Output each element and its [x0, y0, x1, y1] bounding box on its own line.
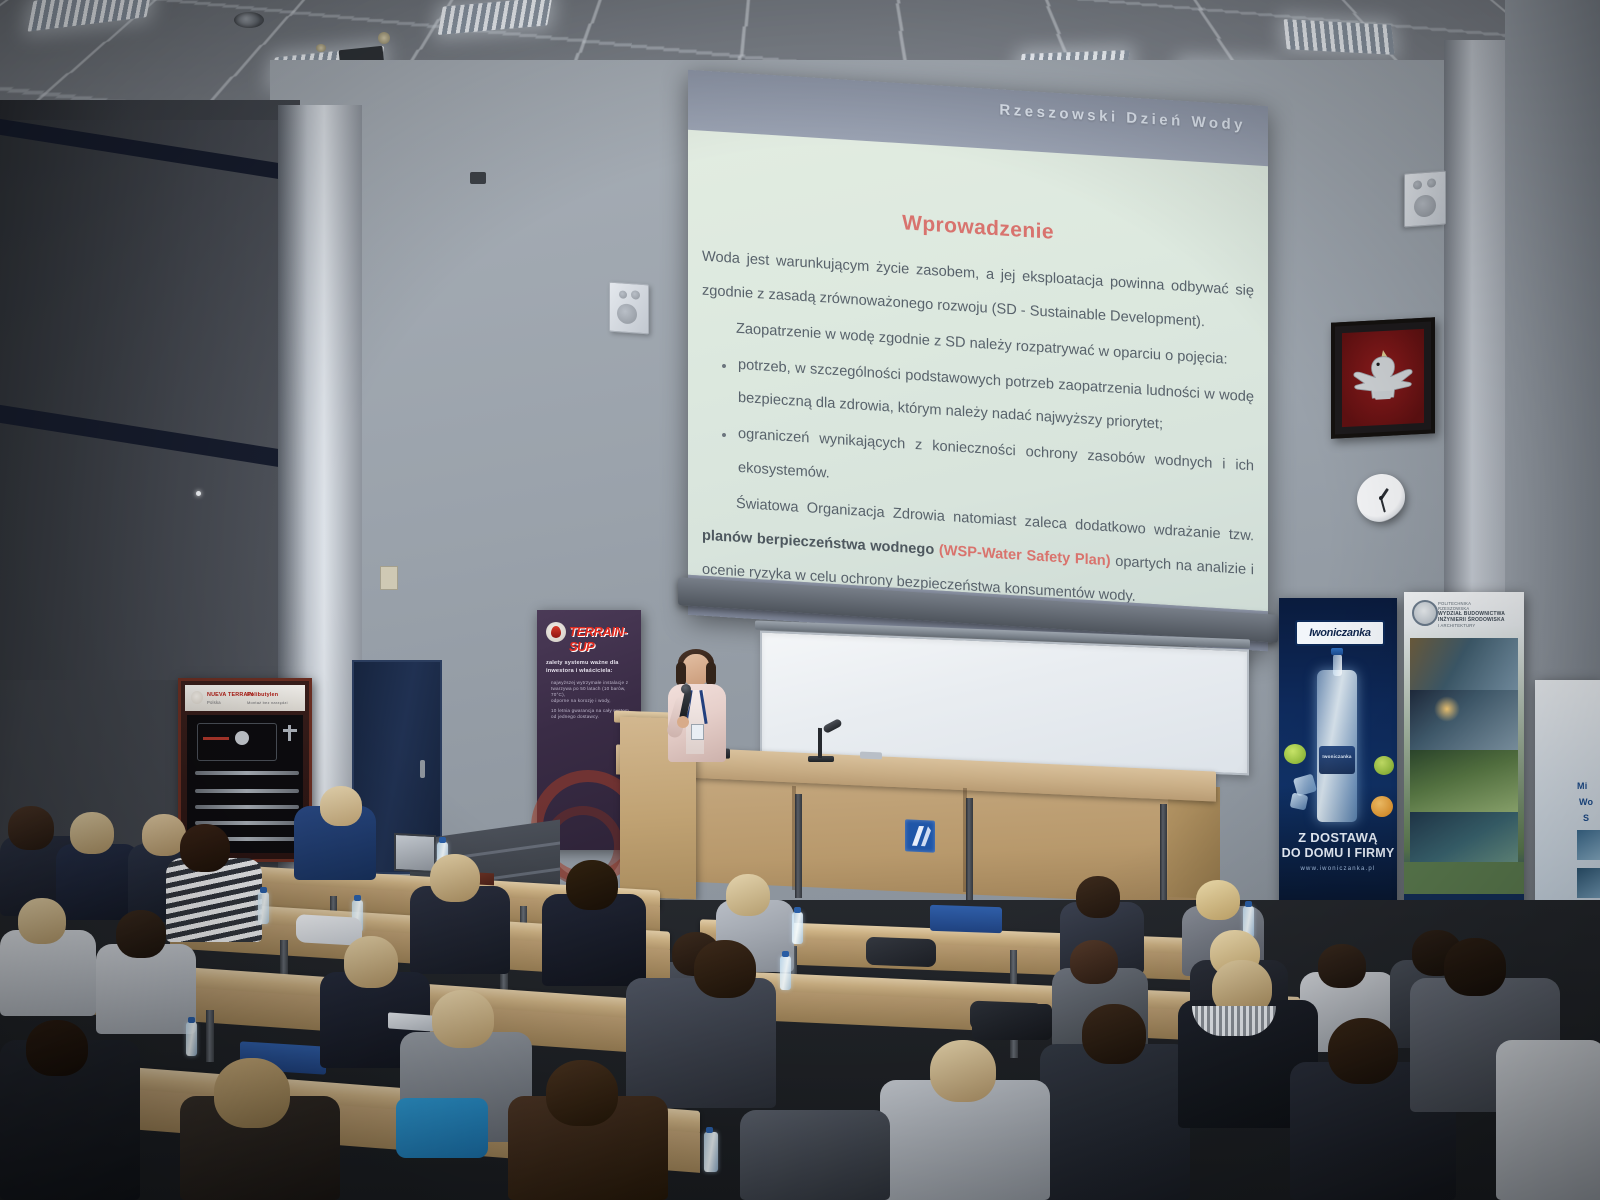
audience-head: [432, 990, 494, 1048]
iwoniczanka-line-2: DO DOMU I FIRMY: [1279, 846, 1397, 860]
audience-head: [546, 1060, 618, 1126]
speaker-cone: [617, 303, 637, 324]
water-bottle: [780, 956, 791, 990]
audience-head: [18, 898, 66, 944]
water-bottle: [186, 1022, 197, 1056]
banner-university: POLITECHNIKA RZESZOWSKA WYDZIAŁ BUDOWNIC…: [1404, 592, 1524, 922]
slide-p3-part-b: planów berpieczeństwa wodnego: [702, 527, 939, 558]
water-bottle: [704, 1132, 718, 1172]
audience-torso: [740, 1110, 890, 1200]
banner-footer-green: [1404, 862, 1524, 894]
far-banner-line-1: Mi: [1577, 780, 1587, 792]
picture-frame-on-bench: [394, 833, 436, 873]
cabinet-valve-icon: [235, 731, 249, 745]
sprinkler-head: [316, 44, 326, 52]
audience-head: [1328, 1018, 1398, 1084]
orange-slice-graphic: [1371, 796, 1393, 817]
speaker-tweeter: [1427, 178, 1436, 188]
polish-eagle-emblem: [1331, 317, 1435, 438]
speaker-tweeter: [1413, 180, 1422, 190]
audience-head: [214, 1058, 290, 1128]
cabinet-pipe-red: [203, 737, 229, 740]
wall-loudspeaker: [609, 282, 649, 335]
handbag: [972, 1004, 1052, 1040]
audience-head: [320, 786, 362, 826]
presenter-hand: [677, 716, 689, 728]
sprinkler-head: [378, 32, 390, 44]
left-wall-panel: [0, 120, 290, 680]
audience-head: [70, 812, 114, 854]
cabinet-brand-sub: Polska: [207, 700, 221, 706]
audience-head: [1076, 876, 1120, 918]
presenter-badge: [691, 724, 704, 740]
lime-slice-graphic: [1374, 756, 1394, 775]
structural-column: [1444, 40, 1514, 640]
terrain-flame-icon: [546, 622, 566, 642]
university-logo-icon: [1412, 600, 1438, 626]
terrain-logo-icon: [191, 691, 203, 704]
terrain-heading: zalety systemu ważne dla inwestora i wła…: [546, 660, 633, 675]
audience-head: [1444, 938, 1506, 996]
presenter-hair-side: [676, 662, 686, 686]
iwoniczanka-line-1: Z DOSTAWĄ: [1279, 830, 1397, 845]
presenter: [660, 650, 734, 760]
audience-head: [1318, 944, 1366, 988]
cabinet-fitting-icon: [288, 725, 291, 741]
speaker-tweeter: [631, 290, 640, 300]
audience-head: [1196, 880, 1240, 920]
desk-leg: [966, 798, 973, 902]
audience-shirt-accent: [396, 1098, 488, 1158]
collage-photo: [1410, 690, 1518, 750]
iwoniczanka-brand-text: Iwoniczanka: [1309, 627, 1371, 639]
banner-iwoniczanka: Iwoniczanka Iwoniczanka Z DOSTAWĄ DO DOM…: [1279, 598, 1397, 910]
slide-wsp-highlight: (WSP-Water Safety Plan): [939, 542, 1111, 569]
audience-head: [930, 1040, 996, 1102]
audience-head: [180, 824, 230, 872]
wall-light-dot: [196, 491, 201, 496]
cabinet-label-plate: NUEVA TERRAIN Polska Polibutylen Montaż …: [185, 685, 305, 711]
water-bottle: [792, 912, 803, 944]
terrain-bullet-2: odporne na korozję i wody,: [551, 698, 633, 704]
eagle-icon: [1342, 329, 1424, 427]
audience-head: [344, 936, 398, 988]
iwoniczanka-website: www.iwoniczanka.pl: [1279, 866, 1397, 872]
cabinet-pipe-sample: [195, 805, 299, 809]
audience-head: [430, 854, 480, 902]
far-banner-photo: [1577, 830, 1600, 860]
ceiling-light-fixture: [1283, 19, 1394, 55]
collage-glow: [1434, 696, 1460, 722]
bench-seat: [930, 905, 1002, 934]
presenter-hair-side: [706, 662, 716, 686]
bottle-neck: [1333, 654, 1342, 676]
institution-logo-icon: [905, 819, 935, 852]
projection-screen: Rzeszowski Dzień Wody Wprowadzenie Woda …: [688, 70, 1268, 651]
wall-outlet-box: [380, 566, 398, 590]
audience-head: [1082, 1004, 1146, 1064]
bottle-cap: [1331, 648, 1343, 655]
lecture-hall-photo: Rzeszowski Dzień Wody Wprowadzenie Woda …: [0, 0, 1600, 1200]
ice-cube-graphic: [1290, 793, 1309, 811]
bag-on-bench: [866, 937, 936, 967]
desk-leg: [795, 794, 802, 898]
slide-header-text: Rzeszowski Dzień Wody: [999, 101, 1246, 134]
terrain-brand-text: TERRAIN-SUP: [569, 624, 641, 654]
collage-photo: [1410, 750, 1518, 812]
far-banner-line-3: S: [1583, 812, 1589, 824]
security-camera-icon: [470, 172, 486, 184]
cabinet-product: Polibutylen: [247, 692, 278, 699]
university-line-5: I ARCHITEKTURY: [1438, 623, 1520, 629]
desk-logo-plate: [905, 819, 935, 852]
audience-torso: [626, 978, 776, 1108]
audience-head: [566, 860, 618, 910]
far-banner-photo: [1577, 868, 1600, 898]
wall-loudspeaker: [1404, 171, 1446, 228]
door-handle[interactable]: [420, 760, 425, 778]
audience-head: [1070, 940, 1118, 984]
bench-leg: [206, 1010, 214, 1062]
cabinet-tagline: Montaż bez narzędzi: [247, 700, 288, 705]
audience-head: [8, 806, 54, 850]
far-banner-line-2: Wo: [1579, 796, 1593, 808]
speaker-cone: [1414, 194, 1436, 218]
audience-head: [726, 874, 770, 916]
audience-head: [116, 910, 166, 958]
terrain-bullet-1: najwyższej wytrzymałe instalacje z twarz…: [551, 680, 633, 699]
ceiling-air-vent: [234, 12, 264, 28]
collage-photo: [1410, 812, 1518, 862]
audience-torso: [1040, 1044, 1190, 1200]
bottle-label-brand: Iwoniczanka: [1319, 754, 1355, 760]
cabinet-pipe-sample: [195, 789, 299, 793]
cabinet-pipe-sample: [195, 771, 299, 775]
collage-photo: [1410, 638, 1518, 690]
desk-leg: [1160, 804, 1167, 906]
slide-content-area: Wprowadzenie Woda jest warunkującym życi…: [688, 130, 1268, 611]
lime-slice-graphic: [1284, 744, 1306, 764]
audience-head: [694, 940, 756, 998]
microphone-grille-icon: [681, 684, 691, 694]
desk-items: [860, 752, 882, 760]
iwoniczanka-logo-plate: Iwoniczanka: [1295, 620, 1385, 646]
water-bottle: [258, 892, 269, 924]
emblem-red-field: [1342, 329, 1424, 427]
audience-torso: [1496, 1040, 1600, 1200]
slide-body: Woda jest warunkującym życie zasobem, a …: [702, 241, 1254, 624]
audience-head: [26, 1020, 88, 1076]
tablet-device[interactable]: [388, 1012, 434, 1031]
gooseneck-microphone-stand: [818, 728, 822, 758]
speaker-tweeter: [619, 290, 627, 299]
